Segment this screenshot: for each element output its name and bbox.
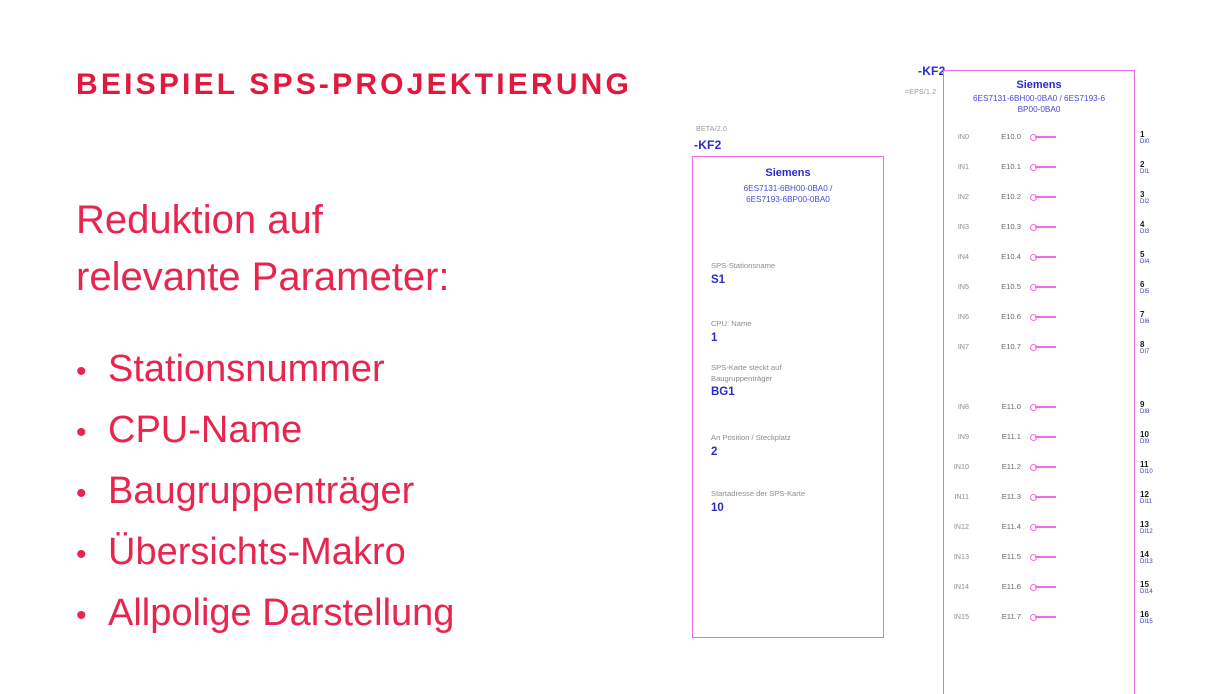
- bullet-dot-icon: •: [76, 342, 86, 401]
- page-title: BEISPIEL SPS-PROJEKTIERUNG: [76, 68, 632, 102]
- io-address: E10.5: [1001, 280, 1021, 294]
- io-input-name: IN11: [954, 490, 969, 504]
- list-item-label: Stationsnummer: [108, 340, 385, 399]
- io-address: E11.1: [1002, 430, 1021, 444]
- param-value: 10: [711, 502, 805, 515]
- io-address: E11.5: [1002, 550, 1021, 564]
- terminal-di-label: DI10: [1140, 468, 1153, 476]
- io-row[interactable]: IN15 E11.7 16 DI15: [944, 610, 1134, 624]
- terminal-di-label: DI12: [1140, 528, 1153, 536]
- io-row[interactable]: IN5 E10.5 6 DI5: [944, 280, 1134, 294]
- param-label: Startadresse der SPS-Karte: [711, 489, 805, 500]
- list-item: • CPU-Name: [76, 401, 676, 462]
- io-input-name: IN4: [958, 250, 969, 264]
- io-row[interactable]: IN14 E11.6 15 DI14: [944, 580, 1134, 594]
- lead-line-2: relevante Parameter:: [76, 249, 636, 306]
- io-input-name: IN3: [958, 220, 969, 234]
- io-input-name: IN12: [954, 520, 969, 534]
- terminal-wire-icon: [1035, 136, 1056, 138]
- io-address: E11.6: [1002, 580, 1021, 594]
- param-label-line-2: Baugruppenträger: [711, 374, 781, 385]
- io-row[interactable]: IN9 E11.1 10 DI9: [944, 430, 1134, 444]
- io-row[interactable]: IN1 E10.1 2 DI1: [944, 160, 1134, 174]
- list-item-label: Allpolige Darstellung: [108, 584, 454, 643]
- param-value: S1: [711, 274, 775, 287]
- io-address: E10.7: [1001, 340, 1021, 354]
- terminal-di-label: DI13: [1140, 558, 1153, 566]
- terminal-wire-icon: [1035, 166, 1056, 168]
- list-item-label: CPU-Name: [108, 401, 302, 460]
- slide-canvas: BEISPIEL SPS-PROJEKTIERUNG Reduktion auf…: [0, 0, 1216, 684]
- middle-device-brand: Siemens: [693, 167, 883, 179]
- middle-device-partno-line-2: 6ES7193-6BP00-0BA0: [693, 194, 883, 205]
- io-input-name: IN7: [958, 340, 969, 354]
- list-item-label: Übersichts-Makro: [108, 523, 406, 582]
- terminal-di-label: DI2: [1140, 198, 1149, 206]
- terminal-di-label: DI11: [1140, 498, 1152, 506]
- terminal-di-label: DI0: [1140, 138, 1149, 146]
- io-row[interactable]: IN11 E11.3 12 DI11: [944, 490, 1134, 504]
- terminal-wire-icon: [1035, 586, 1056, 588]
- io-input-name: IN15: [954, 610, 969, 624]
- terminal-di-label: DI15: [1140, 618, 1153, 626]
- io-row[interactable]: IN8 E11.0 9 DI8: [944, 400, 1134, 414]
- terminal-wire-icon: [1035, 346, 1056, 348]
- bullet-dot-icon: •: [76, 525, 86, 584]
- terminal-wire-icon: [1035, 286, 1056, 288]
- io-address: E10.6: [1001, 310, 1021, 324]
- io-input-name: IN9: [958, 430, 969, 444]
- terminal-wire-icon: [1035, 406, 1056, 408]
- param-start-address: Startadresse der SPS-Karte 10: [711, 489, 805, 515]
- lead-paragraph: Reduktion auf relevante Parameter:: [76, 192, 636, 306]
- lead-line-1: Reduktion auf: [76, 192, 636, 249]
- middle-device-revision: BETA/2.0: [696, 126, 727, 133]
- param-label: CPU: Name: [711, 319, 752, 330]
- terminal-wire-icon: [1035, 556, 1056, 558]
- param-value: BG1: [711, 386, 781, 399]
- right-device-partno-line-2: BP00-0BA0: [944, 104, 1134, 115]
- terminal-wire-icon: [1035, 526, 1056, 528]
- terminal-wire-icon: [1035, 436, 1056, 438]
- right-device-partno-line-1: 6ES7131-6BH00-0BA0 / 6ES7193-6: [944, 93, 1134, 104]
- terminal-wire-icon: [1035, 316, 1056, 318]
- io-input-name: IN2: [958, 190, 969, 204]
- terminal-di-label: DI4: [1140, 258, 1149, 266]
- bullet-list: • Stationsnummer • CPU-Name • Baugruppen…: [76, 340, 676, 645]
- param-cpu-name: CPU: Name 1: [711, 319, 752, 345]
- terminal-wire-icon: [1035, 616, 1056, 618]
- io-address: E10.4: [1001, 250, 1021, 264]
- terminal-wire-icon: [1035, 226, 1056, 228]
- io-row[interactable]: IN7 E10.7 8 DI7: [944, 340, 1134, 354]
- terminal-di-label: DI5: [1140, 288, 1149, 296]
- io-input-name: IN10: [954, 460, 969, 474]
- io-row[interactable]: IN2 E10.2 3 DI2: [944, 190, 1134, 204]
- io-input-name: IN8: [958, 400, 969, 414]
- terminal-di-label: DI9: [1140, 438, 1149, 446]
- bullet-dot-icon: •: [76, 464, 86, 523]
- param-rack: SPS-Karte steckt auf Baugruppenträger BG…: [711, 363, 781, 399]
- list-item: • Übersichts-Makro: [76, 523, 676, 584]
- io-input-name: IN6: [958, 310, 969, 324]
- terminal-di-label: DI3: [1140, 228, 1149, 236]
- list-item-label: Baugruppenträger: [108, 462, 414, 521]
- right-device-sub-tag: =EPS/1.2: [905, 89, 936, 96]
- io-row[interactable]: IN0 E10.0 1 DI0: [944, 130, 1134, 144]
- io-address: E11.0: [1002, 400, 1021, 414]
- io-address: E10.0: [1001, 130, 1021, 144]
- list-item: • Stationsnummer: [76, 340, 676, 401]
- param-station-name: SPS-Stationsname S1: [711, 261, 775, 287]
- io-address: E11.2: [1002, 460, 1021, 474]
- io-row[interactable]: IN13 E11.5 14 DI13: [944, 550, 1134, 564]
- io-address: E10.2: [1001, 190, 1021, 204]
- io-input-name: IN14: [954, 580, 969, 594]
- io-input-name: IN0: [958, 130, 969, 144]
- terminal-di-label: DI1: [1140, 168, 1149, 176]
- io-input-name: IN13: [954, 550, 969, 564]
- middle-device-box: Siemens 6ES7131-6BH00-0BA0 / 6ES7193-6BP…: [692, 156, 884, 638]
- terminal-wire-icon: [1035, 256, 1056, 258]
- terminal-di-label: DI6: [1140, 318, 1149, 326]
- io-row[interactable]: IN12 E11.4 13 DI12: [944, 520, 1134, 534]
- io-input-name: IN1: [958, 160, 969, 174]
- io-address: E11.7: [1002, 610, 1021, 624]
- right-device-box: Siemens 6ES7131-6BH00-0BA0 / 6ES7193-6 B…: [943, 70, 1135, 694]
- io-address: E10.3: [1001, 220, 1021, 234]
- param-label: SPS-Stationsname: [711, 261, 775, 272]
- param-slot: An Position / Steckplatz 2: [711, 433, 791, 459]
- terminal-wire-icon: [1035, 196, 1056, 198]
- io-row[interactable]: IN4 E10.4 5 DI4: [944, 250, 1134, 264]
- io-row[interactable]: IN10 E11.2 11 DI10: [944, 460, 1134, 474]
- bullet-dot-icon: •: [76, 586, 86, 645]
- list-item: • Baugruppenträger: [76, 462, 676, 523]
- list-item: • Allpolige Darstellung: [76, 584, 676, 645]
- terminal-di-label: DI14: [1140, 588, 1153, 596]
- terminal-wire-icon: [1035, 466, 1056, 468]
- terminal-di-label: DI8: [1140, 408, 1149, 416]
- param-value: 2: [711, 446, 791, 459]
- io-row[interactable]: IN6 E10.6 7 DI6: [944, 310, 1134, 324]
- terminal-wire-icon: [1035, 496, 1056, 498]
- middle-device-tag: -KF2: [694, 138, 721, 152]
- terminal-di-label: DI7: [1140, 348, 1149, 356]
- right-device-tag: -KF2: [918, 64, 945, 78]
- io-address: E11.4: [1002, 520, 1021, 534]
- right-device-brand: Siemens: [944, 79, 1134, 91]
- io-address: E10.1: [1001, 160, 1021, 174]
- param-label-line-1: SPS-Karte steckt auf: [711, 363, 781, 374]
- io-row[interactable]: IN3 E10.3 4 DI3: [944, 220, 1134, 234]
- bullet-dot-icon: •: [76, 403, 86, 462]
- param-value: 1: [711, 332, 752, 345]
- middle-device-partno-line-1: 6ES7131-6BH00-0BA0 /: [693, 183, 883, 194]
- io-address: E11.3: [1002, 490, 1021, 504]
- io-input-name: IN5: [958, 280, 969, 294]
- param-label: An Position / Steckplatz: [711, 433, 791, 444]
